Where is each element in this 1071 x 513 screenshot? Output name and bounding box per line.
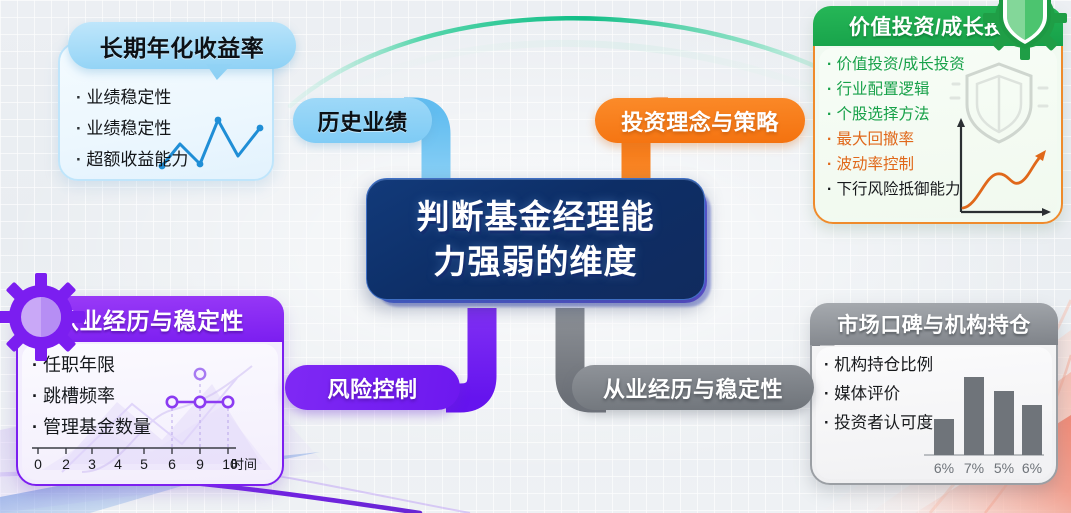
card-long-term-return-title: 长期年化收益率 [100, 29, 265, 63]
card-value-growth-investing-body: 价值投资/成长投资 行业配置逻辑 个股选择方法 最大回撤率 波动率控制 下行风险… [819, 48, 1057, 218]
bar-label: 6% [934, 460, 954, 476]
card-value-growth-investing-list: 价值投资/成长投资 行业配置逻辑 个股选择方法 最大回撤率 波动率控制 下行风险… [827, 52, 965, 202]
list-item: 下行风险抵御能力 [827, 177, 965, 202]
center-topic-title-line1: 判断基金经理能 [417, 198, 655, 235]
branch-pill-risk-control-label: 风险控制 [327, 372, 417, 404]
card-experience-stability-list: 任职年限 跳槽频率 管理基金数量 [32, 350, 151, 443]
svg-text:5: 5 [140, 456, 148, 472]
branch-pill-experience-stability-label: 从业经历与稳定性 [603, 372, 783, 404]
list-item: 价值投资/成长投资 [827, 52, 965, 77]
list-item: 个股选择方法 [827, 102, 965, 127]
list-item: 投资者认可度 [824, 409, 933, 438]
center-topic-box[interactable]: 判断基金经理能 力强弱的维度 [366, 178, 705, 300]
bar-label: 5% [994, 460, 1014, 476]
list-item: 机构持仓比例 [824, 351, 933, 380]
list-item: 业绩稳定性 [76, 82, 188, 113]
branch-pill-history-label: 历史业绩 [317, 105, 407, 137]
svg-text:9: 9 [196, 456, 204, 472]
card-market-reputation-title: 市场口碑与机构持仓 [837, 309, 1031, 339]
list-item: 波动率控制 [827, 152, 965, 177]
card-long-term-return-header[interactable]: 长期年化收益率 [68, 22, 296, 69]
card-market-reputation-list: 机构持仓比例 媒体评价 投资者认可度 [824, 351, 933, 438]
card-experience-stability-body: 0 2 3 4 5 6 9 10 时间 任职年限 跳槽频率 管理基金数量 [22, 344, 278, 480]
list-item: 超额收益能力 [76, 144, 188, 175]
card-market-reputation-header[interactable]: 市场口碑与机构持仓 [810, 303, 1058, 345]
mini-bar-chart-holdings: 6% 7% 5% 6% [918, 357, 1048, 477]
svg-text:4: 4 [114, 456, 122, 472]
list-item: 行业配置逻辑 [827, 77, 965, 102]
branch-pill-risk-control[interactable]: 风险控制 [285, 365, 460, 410]
center-topic-title: 判断基金经理能 力强弱的维度 [417, 194, 655, 284]
list-item: 最大回撤率 [827, 127, 965, 152]
list-item: 管理基金数量 [32, 412, 151, 443]
bar-label: 7% [964, 460, 984, 476]
infographic-canvas: 业绩稳定性 业绩稳定性 超额收益能力 长期年化收益率 价值投资/成长投资 行业配… [0, 0, 1071, 513]
branch-pill-investment-philosophy-label: 投资理念与策略 [621, 105, 779, 137]
list-item: 业绩稳定性 [76, 113, 188, 144]
list-item: 跳槽频率 [32, 381, 151, 412]
bar-label: 6% [1022, 460, 1042, 476]
gear-icon [0, 272, 86, 362]
branch-pill-experience-stability[interactable]: 从业经历与稳定性 [572, 365, 814, 410]
list-item: 媒体评价 [824, 380, 933, 409]
center-topic-title-line2: 力强弱的维度 [434, 243, 638, 280]
card-market-reputation-body: 6% 7% 5% 6% 机构持仓比例 媒体评价 投资者认可度 [816, 347, 1052, 479]
svg-text:3: 3 [88, 456, 96, 472]
svg-text:6: 6 [168, 456, 176, 472]
branch-pill-history[interactable]: 历史业绩 [293, 98, 432, 143]
axis-label-time: 时间 [231, 457, 257, 472]
svg-text:0: 0 [34, 456, 42, 472]
branch-pill-investment-philosophy[interactable]: 投资理念与策略 [595, 98, 805, 143]
shield-gear-icon [975, 0, 1071, 66]
svg-text:2: 2 [62, 456, 70, 472]
card-long-term-return-list: 业绩稳定性 业绩稳定性 超额收益能力 [76, 82, 188, 175]
